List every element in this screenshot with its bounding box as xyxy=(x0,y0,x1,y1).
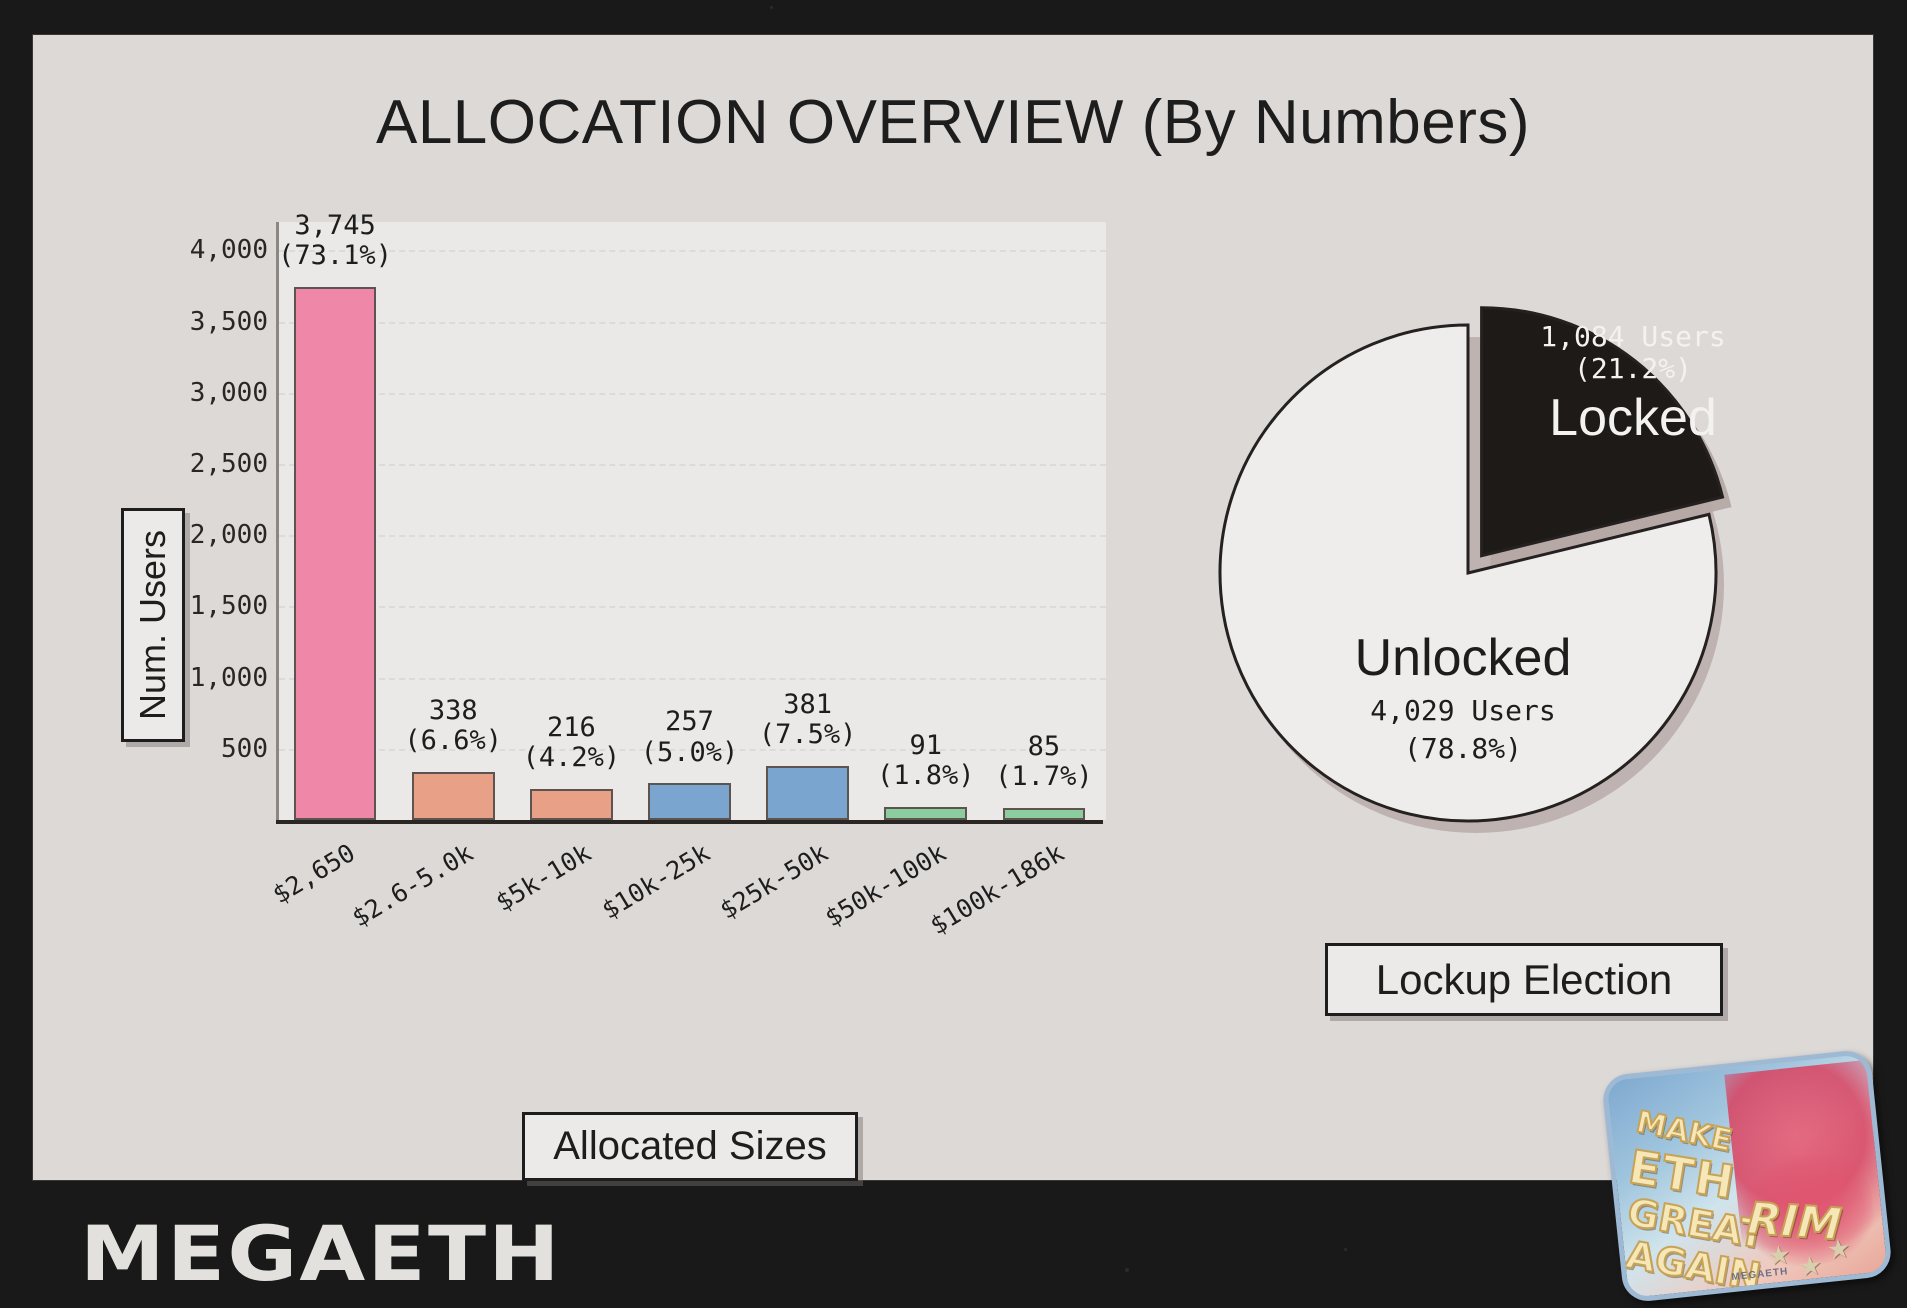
bar xyxy=(648,783,731,820)
y-axis-tick: 3,500 xyxy=(190,307,268,337)
bar-value-label: 85(1.7%) xyxy=(954,732,1134,792)
noise-speck xyxy=(1125,1268,1129,1272)
bar-value: 85 xyxy=(954,732,1134,762)
y-axis-label-text: Num. Users xyxy=(132,530,174,720)
bar-value-label: 3,745(73.1%) xyxy=(245,211,425,271)
y-axis-tick: 1,500 xyxy=(190,591,268,621)
locked-users-text: 1,084 Users xyxy=(1488,321,1778,353)
bar-chart: 5001,0001,5002,0002,5003,0003,5004,000 3… xyxy=(243,222,1103,847)
bar-percent: (73.1%) xyxy=(245,241,425,271)
x-axis-line xyxy=(276,820,1103,824)
grid-line xyxy=(279,606,1106,608)
locked-wedge-label: 1,084 Users (21.2%) Locked xyxy=(1488,321,1778,449)
y-axis-tick: 1,000 xyxy=(190,663,268,693)
y-axis-tick: 2,000 xyxy=(190,520,268,550)
unlocked-wedge-label: Unlocked 4,029 Users (78.8%) xyxy=(1283,629,1643,765)
make-eth-great-again-sticker: MAKE ETH GREAT AGAIN RIM ★ ★ ★ MEGAETH xyxy=(1601,1049,1893,1304)
grid-line xyxy=(279,322,1106,324)
star-icon: ★ xyxy=(1797,1250,1823,1283)
bar xyxy=(412,772,495,820)
sticker-plate: MAKE ETH GREAT AGAIN RIM ★ ★ ★ MEGAETH xyxy=(1601,1049,1893,1304)
bar xyxy=(884,807,967,820)
pie-chart: 1,084 Users (21.2%) Locked Unlocked 4,02… xyxy=(1188,273,1788,873)
video-frame: ALLOCATION OVERVIEW (By Numbers) 5001,00… xyxy=(0,0,1907,1308)
locked-percent-text: (21.2%) xyxy=(1488,353,1778,385)
noise-speck xyxy=(1344,1248,1347,1251)
unlocked-users-text: 4,029 Users xyxy=(1283,695,1643,727)
star-icon: ★ xyxy=(1826,1233,1852,1266)
grid-line xyxy=(279,464,1106,466)
grid-line xyxy=(279,678,1106,680)
bar xyxy=(530,789,613,820)
y-axis-label-box: Num. Users xyxy=(121,508,185,742)
locked-name-text: Locked xyxy=(1488,389,1778,449)
y-axis-tick: 500 xyxy=(221,734,268,764)
pie-caption-box: Lockup Election xyxy=(1325,943,1723,1016)
megaeth-wordmark: MEGAETH xyxy=(80,1209,562,1298)
unlocked-name-text: Unlocked xyxy=(1283,629,1643,689)
page-title: ALLOCATION OVERVIEW (By Numbers) xyxy=(33,87,1873,158)
x-axis-label-box: Allocated Sizes xyxy=(522,1112,858,1181)
x-axis-label-text: Allocated Sizes xyxy=(553,1124,826,1169)
y-axis-tick: 2,500 xyxy=(190,449,268,479)
pie-caption-text: Lockup Election xyxy=(1376,956,1673,1004)
bar-value: 381 xyxy=(718,690,898,720)
unlocked-percent-text: (78.8%) xyxy=(1283,733,1643,765)
bar xyxy=(1003,808,1086,820)
noise-speck xyxy=(770,6,773,9)
bar-percent: (1.7%) xyxy=(954,762,1134,792)
slide: ALLOCATION OVERVIEW (By Numbers) 5001,00… xyxy=(33,35,1873,1180)
bar-value: 3,745 xyxy=(245,211,425,241)
grid-line xyxy=(279,535,1106,537)
y-axis-tick: 3,000 xyxy=(190,378,268,408)
grid-line xyxy=(279,393,1106,395)
